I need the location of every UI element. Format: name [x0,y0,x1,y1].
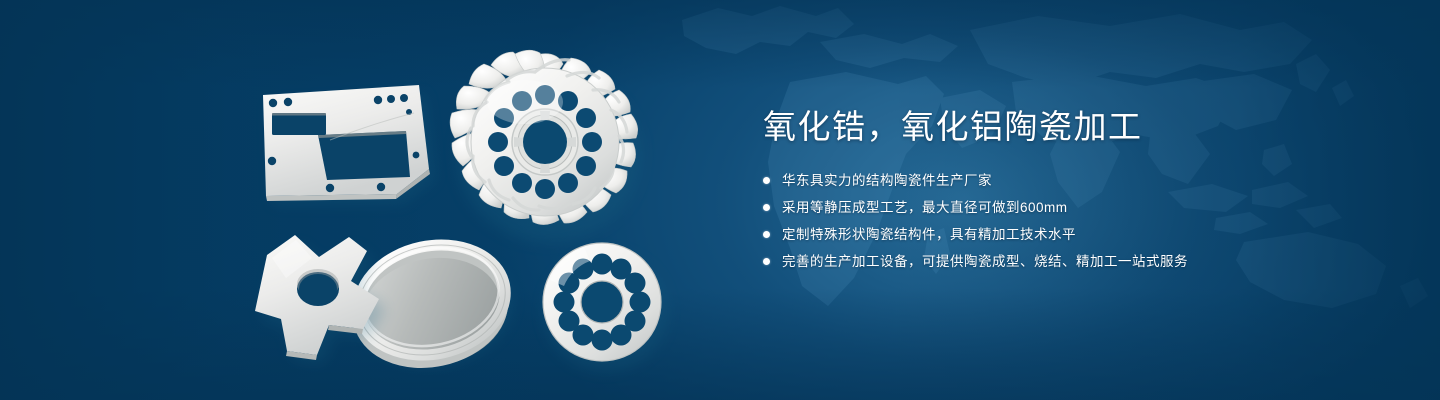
list-item: 完善的生产加工设备，可提供陶瓷成型、烧结、精加工一站式服务 [763,251,1363,272]
list-item-label: 采用等静压成型工艺，最大直径可做到600mm [782,197,1068,218]
banner-text-block: 氧化锆，氧化铝陶瓷加工 华东具实力的结构陶瓷件生产厂家 采用等静压成型工艺，最大… [763,108,1363,278]
bullet-dot-icon [763,177,770,184]
bullet-dot-icon [763,204,770,211]
feature-list: 华东具实力的结构陶瓷件生产厂家 采用等静压成型工艺，最大直径可做到600mm 定… [763,170,1363,272]
hero-banner: 氧化锆，氧化铝陶瓷加工 华东具实力的结构陶瓷件生产厂家 采用等静压成型工艺，最大… [0,0,1440,400]
list-item-label: 华东具实力的结构陶瓷件生产厂家 [782,170,992,191]
bullet-dot-icon [763,231,770,238]
list-item: 华东具实力的结构陶瓷件生产厂家 [763,170,1363,191]
bullet-dot-icon [763,258,770,265]
list-item: 采用等静压成型工艺，最大直径可做到600mm [763,197,1363,218]
list-item: 定制特殊形状陶瓷结构件，具有精加工技术水平 [763,224,1363,245]
list-item-label: 定制特殊形状陶瓷结构件，具有精加工技术水平 [782,224,1076,245]
list-item-label: 完善的生产加工设备，可提供陶瓷成型、烧结、精加工一站式服务 [782,251,1188,272]
page-title: 氧化锆，氧化铝陶瓷加工 [763,108,1363,146]
